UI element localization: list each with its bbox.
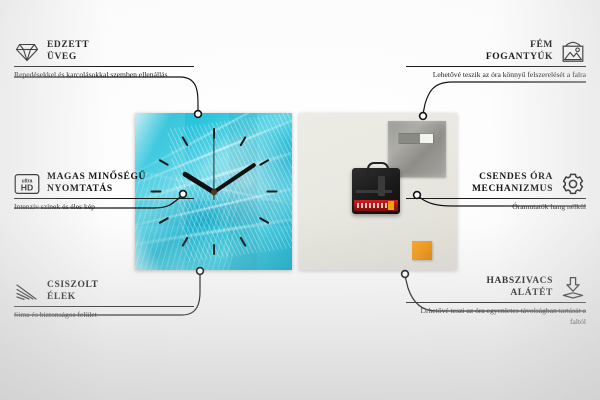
- feature-divider: [14, 198, 194, 199]
- feature-header: ultra HD MAGAS MINŐSÉGŰ NYOMTATÁS: [14, 172, 194, 195]
- feature-header: CSENDES ÓRA MECHANIZMUS: [406, 172, 586, 195]
- mechanism-slot: [378, 176, 385, 196]
- feature-foam-pad: HABSZIVACS ALÁTÉT Lehetővé teszi az óra …: [406, 276, 586, 327]
- svg-text:HD: HD: [21, 182, 33, 192]
- feature-divider: [14, 306, 194, 307]
- ultra-hd-icon: ultra HD: [14, 173, 40, 195]
- feature-title-line1: CSENDES ÓRA: [479, 172, 553, 182]
- feature-silent-mechanism: CSENDES ÓRA MECHANIZMUS Óramutatók hang …: [406, 172, 586, 213]
- feature-subtitle: Repedésekkel és karcolásokkal szemben el…: [14, 70, 194, 80]
- feature-title-line2: ALÁTÉT: [510, 288, 553, 298]
- clock-center-cap: [211, 189, 217, 195]
- feature-title-line2: ÜVEG: [47, 52, 77, 62]
- feature-title: FÉM FOGANTYÚK: [486, 40, 553, 63]
- feature-metal-handles: FÉM FOGANTYÚK Lehetővé teszik az óra kön…: [406, 40, 586, 81]
- connector-handles: [423, 82, 586, 114]
- feature-tempered-glass: EDZETT ÜVEG Repedésekkel és karcolásokka…: [14, 40, 194, 81]
- feature-polished-edges: CSISZOLT ÉLEK Sima és biztonságos felüle…: [14, 280, 194, 321]
- feature-header: CSISZOLT ÉLEK: [14, 280, 194, 303]
- arrow-down-layers-icon: [560, 277, 586, 299]
- feature-title: MAGAS MINŐSÉGŰ NYOMTATÁS: [47, 172, 146, 195]
- feature-header: EDZETT ÜVEG: [14, 40, 194, 63]
- feature-title-line1: HABSZIVACS: [486, 276, 553, 286]
- feature-title: HABSZIVACS ALÁTÉT: [486, 276, 553, 299]
- feature-divider: [406, 302, 586, 303]
- feature-title: EDZETT ÜVEG: [47, 40, 89, 63]
- mechanism-ridge: [356, 190, 392, 193]
- gear-icon: [560, 173, 586, 195]
- feature-hd-print: ultra HD MAGAS MINŐSÉGŰ NYOMTATÁS Intenz…: [14, 172, 194, 213]
- feature-title: CSISZOLT ÉLEK: [47, 280, 98, 303]
- feature-title-line1: EDZETT: [47, 40, 89, 50]
- clock-mechanism-box: [352, 168, 400, 214]
- orange-foam-pad: [412, 241, 432, 260]
- feature-subtitle: Intenzív színek és éles kép: [14, 202, 194, 212]
- picture-hanger-icon: [560, 41, 586, 63]
- feature-title: CSENDES ÓRA MECHANIZMUS: [472, 172, 553, 195]
- feature-title-line1: FÉM: [530, 40, 553, 50]
- connector-glass: [14, 77, 198, 112]
- feature-header: FÉM FOGANTYÚK: [406, 40, 586, 63]
- feature-divider: [14, 66, 194, 67]
- hour-marker: [213, 244, 215, 255]
- feature-title-line2: FOGANTYÚK: [486, 52, 553, 62]
- feature-title-line2: NYOMTATÁS: [47, 184, 113, 194]
- feature-divider: [406, 198, 586, 199]
- polished-edge-icon: [14, 281, 40, 303]
- mechanism-hanging-loop: [367, 162, 389, 174]
- infographic-canvas: EDZETT ÜVEG Repedésekkel és karcolásokka…: [0, 0, 600, 400]
- feature-title-line2: MECHANIZMUS: [472, 184, 553, 194]
- hour-marker: [266, 191, 277, 193]
- feature-divider: [406, 66, 586, 67]
- feature-subtitle: Lehetővé teszi az óra egyenletes távolsá…: [406, 306, 586, 327]
- feature-subtitle: Lehetővé teszik az óra könnyű felszerelé…: [406, 70, 586, 80]
- feature-title-line1: CSISZOLT: [47, 280, 98, 290]
- diamond-icon: [14, 41, 40, 63]
- feature-subtitle: Sima és biztonságos felület: [14, 310, 194, 320]
- battery-label: [357, 203, 387, 208]
- feature-title-line2: ÉLEK: [47, 292, 76, 302]
- feature-title-line1: MAGAS MINŐSÉGŰ: [47, 172, 146, 182]
- aa-battery: [354, 200, 398, 211]
- feature-subtitle: Óramutatók hang nélkül: [406, 202, 586, 212]
- feature-header: HABSZIVACS ALÁTÉT: [406, 276, 586, 299]
